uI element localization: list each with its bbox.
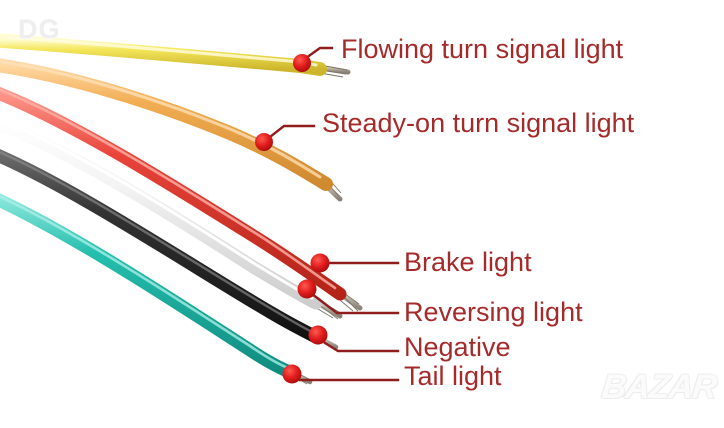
wire-red-body bbox=[0, 90, 340, 294]
marker-dot-reversing-light bbox=[298, 280, 317, 299]
leader-steady-on-turn-signal bbox=[270, 126, 314, 137]
leader-flowing-turn-signal bbox=[306, 48, 332, 58]
marker-dot-brake-light bbox=[311, 254, 330, 273]
wire-yellow-body bbox=[0, 40, 320, 69]
label-reversing-light: Reversing light bbox=[404, 299, 583, 326]
label-tail-light: Tail light bbox=[404, 363, 502, 390]
wire-white bbox=[0, 116, 340, 319]
wire-teal bbox=[0, 192, 310, 384]
wire-teal-body bbox=[0, 196, 292, 373]
marker-dot-negative bbox=[309, 326, 328, 345]
label-negative: Negative bbox=[404, 334, 511, 361]
marker-dot-tail-light bbox=[283, 365, 302, 384]
label-flowing-turn-signal-light: Flowing turn signal light bbox=[341, 36, 623, 63]
wire-group bbox=[0, 36, 360, 384]
marker-dot-steady-on-turn-signal bbox=[255, 133, 273, 151]
wire-orange-body bbox=[0, 64, 326, 184]
label-brake-light: Brake light bbox=[404, 249, 532, 276]
wiring-diagram-svg bbox=[0, 0, 724, 428]
label-steady-on-turn-signal-light: Steady-on turn signal light bbox=[322, 110, 634, 137]
marker-dot-flowing-turn-signal bbox=[293, 54, 311, 72]
marker-dot-group bbox=[255, 54, 330, 384]
wiring-diagram-image: Flowing turn signal light Steady-on turn… bbox=[0, 0, 724, 428]
